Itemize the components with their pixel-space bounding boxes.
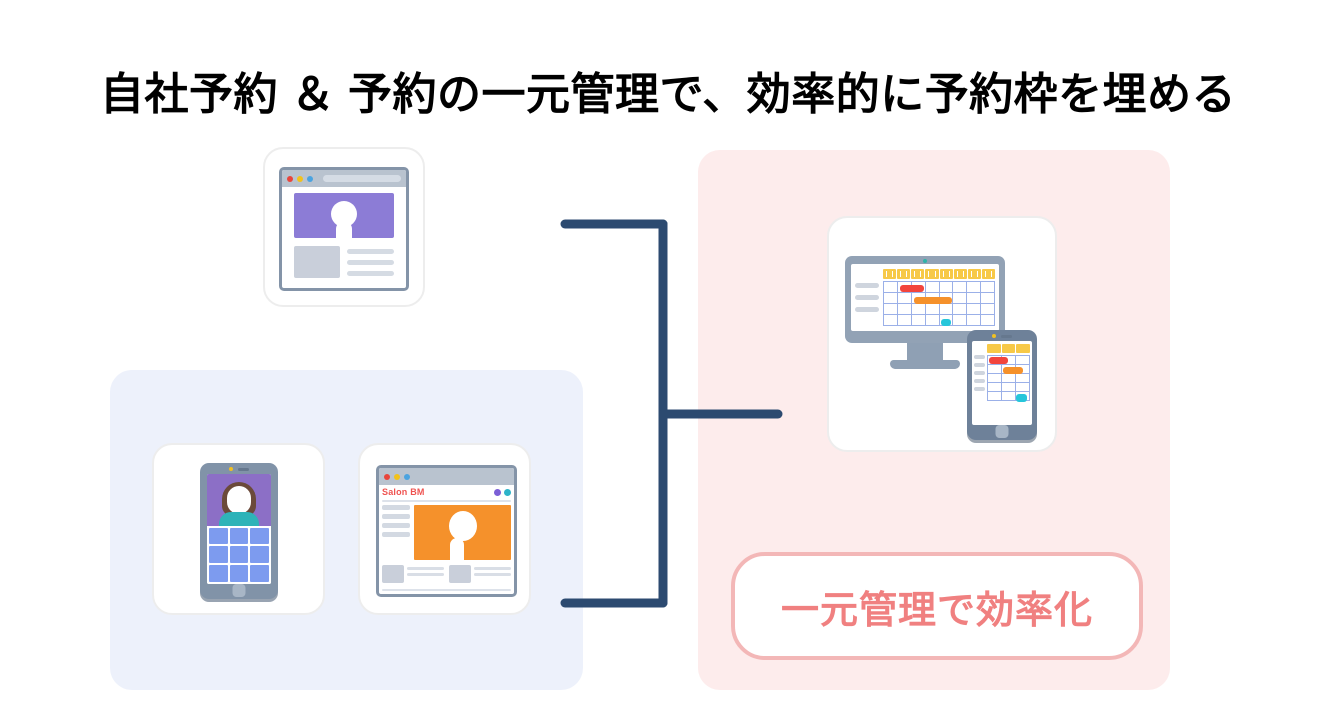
grid-cell — [230, 546, 249, 563]
calendar-header-cell — [940, 269, 953, 279]
phone-sidebar — [974, 344, 985, 422]
calendar-cell[interactable] — [884, 304, 898, 315]
calendar-cell[interactable] — [898, 293, 912, 304]
sidebar-line — [382, 523, 410, 528]
salon-card-row — [379, 560, 514, 583]
text-line — [474, 573, 511, 576]
person-body-icon — [450, 538, 464, 560]
monitor-base — [890, 360, 960, 369]
website-hero-image — [294, 193, 394, 238]
phone-speaker-icon — [1001, 335, 1012, 338]
divider — [382, 589, 511, 591]
phone-top-bar — [200, 467, 278, 471]
calendar-cell[interactable] — [967, 282, 981, 293]
salon-item-card — [382, 565, 444, 583]
grid-cell — [250, 546, 269, 563]
calendar-header-cell — [1016, 344, 1030, 353]
salon-website-icon: Salon BM — [376, 465, 517, 597]
text-line — [347, 260, 394, 265]
traffic-light-blue-icon — [404, 474, 410, 480]
calendar-cell[interactable] — [884, 282, 898, 293]
calendar-cell[interactable] — [926, 315, 940, 326]
grid-cell — [230, 565, 249, 582]
calendar-cell[interactable] — [884, 315, 898, 326]
calendar-cell[interactable] — [1002, 392, 1016, 401]
calendar-cell[interactable] — [1016, 356, 1030, 365]
phone-camera-icon — [992, 334, 996, 338]
grid-cell — [230, 528, 249, 545]
sidebar-line — [382, 514, 410, 519]
sidebar-line — [974, 355, 985, 359]
calendar-cell[interactable] — [1016, 383, 1030, 392]
nav-dot-icon[interactable] — [504, 489, 511, 496]
calendar-cell[interactable] — [967, 293, 981, 304]
grid-cell — [250, 565, 269, 582]
calendar-cell[interactable] — [981, 293, 995, 304]
calendar-cell[interactable] — [953, 315, 967, 326]
salon-footer-button — [417, 595, 476, 597]
calendar-cell[interactable] — [953, 293, 967, 304]
calendar-cell[interactable] — [981, 282, 995, 293]
monitor-neck — [907, 343, 943, 360]
divider — [382, 500, 511, 502]
sidebar-line — [974, 363, 985, 367]
avatar-body-icon — [219, 512, 259, 526]
phone-screen — [207, 474, 271, 584]
sidebar-line — [974, 379, 985, 383]
calendar-header-cell — [987, 344, 1001, 353]
website-content-row — [294, 246, 394, 278]
browser-titlebar — [282, 170, 406, 187]
calendar-header-cell — [897, 269, 910, 279]
calendar-cell[interactable] — [926, 282, 940, 293]
traffic-light-red-icon — [287, 176, 293, 182]
sidebar-line — [855, 283, 879, 288]
salon-site-card[interactable]: Salon BM — [358, 443, 531, 615]
calendar-cell[interactable] — [1016, 374, 1030, 383]
booking-event-red[interactable] — [989, 357, 1008, 364]
grid-cell — [209, 546, 228, 563]
sidebar-line — [855, 295, 879, 300]
phone-calendar-grid — [987, 344, 1030, 422]
person-body-icon — [336, 221, 352, 238]
calendar-cell[interactable] — [884, 293, 898, 304]
sidebar-line — [855, 307, 879, 312]
booking-event-cyan[interactable] — [1016, 394, 1027, 402]
salon-site-title: Salon BM — [382, 487, 425, 497]
calendar-cell[interactable] — [981, 304, 995, 315]
calendar-cell[interactable] — [988, 383, 1002, 392]
calendar-header-row — [883, 269, 995, 279]
calendar-body — [883, 281, 995, 326]
admin-dashboard-card[interactable] — [827, 216, 1057, 452]
item-text-lines — [407, 565, 444, 583]
calendar-header-cell — [925, 269, 938, 279]
phone-top-bar — [967, 334, 1037, 338]
calendar-cell[interactable] — [912, 315, 926, 326]
website-card[interactable] — [263, 147, 425, 307]
calendar-cell[interactable] — [898, 304, 912, 315]
calendar-header-cell — [982, 269, 995, 279]
traffic-light-blue-icon — [307, 176, 313, 182]
calendar-cell[interactable] — [926, 304, 940, 315]
phone-screen — [972, 341, 1032, 425]
salon-nav-dots — [494, 489, 511, 496]
traffic-light-red-icon — [384, 474, 390, 480]
item-text-lines — [474, 565, 511, 583]
app-menu-grid — [207, 526, 271, 584]
browser-titlebar — [379, 468, 514, 485]
calendar-cell[interactable] — [940, 282, 954, 293]
nav-dot-icon[interactable] — [494, 489, 501, 496]
person-head-icon — [449, 511, 477, 541]
calendar-header-cell — [883, 269, 896, 279]
admin-smartphone-icon — [967, 330, 1037, 440]
calendar-cell[interactable] — [988, 365, 1002, 374]
calendar-header-cell — [968, 269, 981, 279]
salon-sidebar — [382, 505, 410, 560]
calendar-cell[interactable] — [967, 315, 981, 326]
calendar-cell[interactable] — [953, 282, 967, 293]
item-thumbnail — [382, 565, 404, 583]
cta-button[interactable]: 一元管理で効率化 — [731, 552, 1143, 660]
monitor-screen — [851, 264, 999, 331]
calendar-header-row — [987, 344, 1030, 353]
phone-home-button-icon — [996, 425, 1009, 438]
content-thumbnail — [294, 246, 340, 278]
calendar-cell[interactable] — [967, 304, 981, 315]
calendar-cell[interactable] — [898, 315, 912, 326]
salon-hero-image — [414, 505, 511, 560]
calendar-cell[interactable] — [1002, 383, 1016, 392]
calendar-header-cell — [954, 269, 967, 279]
content-text-lines — [347, 246, 394, 278]
sidebar-line — [974, 387, 985, 391]
booking-event-cyan[interactable] — [941, 319, 951, 326]
text-line — [407, 567, 444, 570]
sidebar-line — [382, 532, 410, 537]
calendar-cell[interactable] — [912, 304, 926, 315]
salon-item-card — [449, 565, 511, 583]
grid-cell — [209, 565, 228, 582]
phone-home-button-icon — [233, 584, 246, 597]
traffic-light-yellow-icon — [297, 176, 303, 182]
page-title: 自社予約 ＆ 予約の一元管理で、効率的に予約枠を埋める — [100, 67, 1260, 122]
traffic-light-yellow-icon — [394, 474, 400, 480]
address-bar — [323, 175, 401, 182]
booking-event-orange[interactable] — [1003, 367, 1023, 374]
salon-site-header: Salon BM — [379, 485, 514, 500]
smartphone-app-icon — [200, 463, 278, 599]
salon-main-row — [379, 505, 514, 560]
calendar-cell[interactable] — [988, 392, 1002, 401]
smartphone-card[interactable] — [152, 443, 325, 615]
sidebar-line — [974, 371, 985, 375]
calendar-grid — [883, 269, 995, 326]
phone-speaker-icon — [238, 468, 249, 471]
text-line — [347, 249, 394, 254]
phone-camera-icon — [229, 467, 233, 471]
website-body — [282, 187, 406, 284]
calendar-cell[interactable] — [1002, 374, 1016, 383]
grid-cell — [209, 528, 228, 545]
calendar-cell[interactable] — [953, 304, 967, 315]
app-hero-banner — [207, 474, 271, 526]
calendar-body — [987, 355, 1030, 401]
website-browser-icon — [279, 167, 409, 291]
dashboard-sidebar — [855, 269, 879, 326]
booking-event-orange[interactable] — [914, 297, 952, 304]
avatar-face-icon — [227, 486, 251, 514]
booking-event-red[interactable] — [900, 285, 924, 292]
calendar-cell[interactable] — [981, 315, 995, 326]
text-line — [347, 271, 394, 276]
calendar-cell[interactable] — [940, 304, 954, 315]
sidebar-line — [382, 505, 410, 510]
grid-cell — [250, 528, 269, 545]
calendar-cell[interactable] — [988, 374, 1002, 383]
slide-canvas: 自社予約 ＆ 予約の一元管理で、効率的に予約枠を埋める — [0, 0, 1323, 723]
calendar-header-cell — [911, 269, 924, 279]
text-line — [474, 567, 511, 570]
monitor-led-icon — [923, 259, 927, 263]
item-thumbnail — [449, 565, 471, 583]
text-line — [407, 573, 444, 576]
calendar-header-cell — [1002, 344, 1016, 353]
